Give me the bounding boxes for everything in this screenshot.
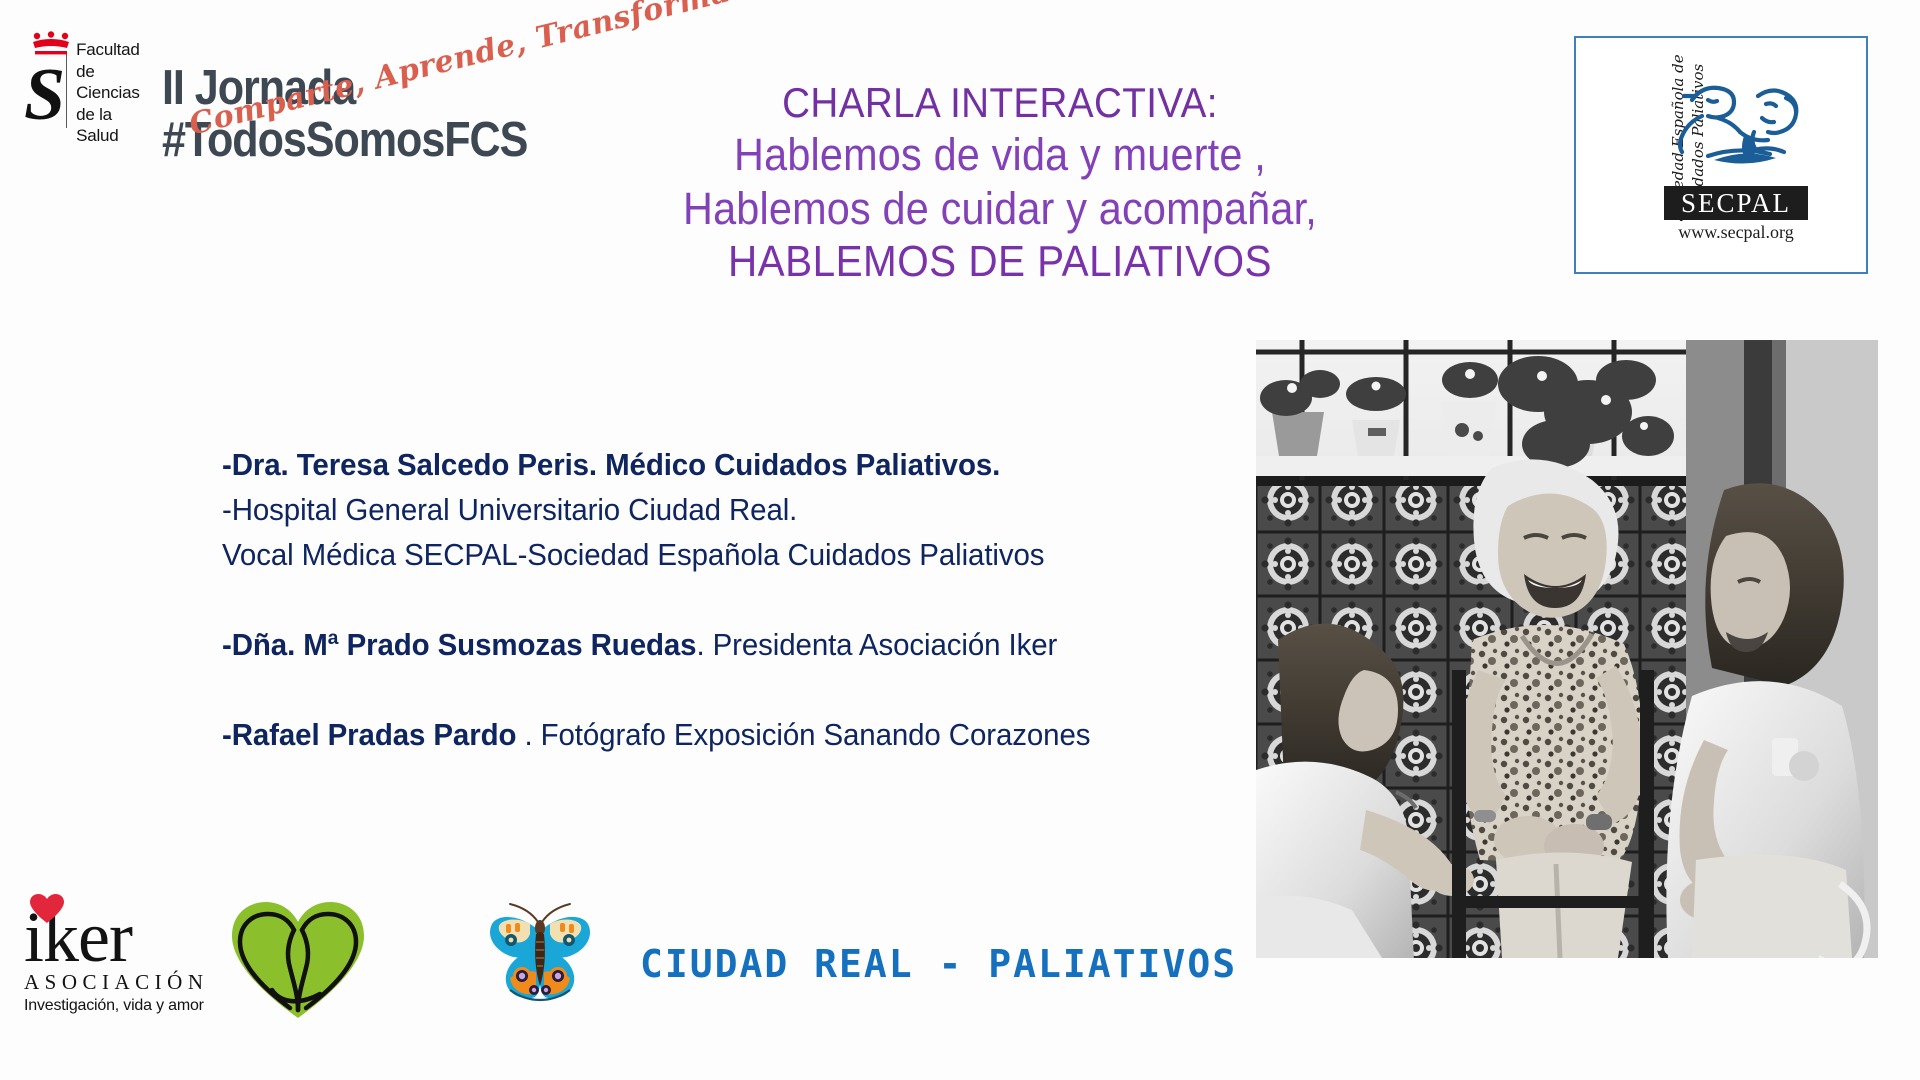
list-spacer xyxy=(222,577,1232,622)
heart-icon xyxy=(30,894,64,924)
speaker-name: -Dra. Teresa Salcedo Peris. Médico Cuida… xyxy=(222,447,1000,482)
speaker-detail: Vocal Médica SECPAL-Sociedad Española Cu… xyxy=(222,537,1044,572)
logo-divider xyxy=(66,54,67,128)
facultad-ciencias-salud-logo: S Facultad de Ciencias de la Salud xyxy=(22,28,152,140)
urjc-crest-icon: S xyxy=(22,28,64,140)
jornada-wordmark: II Jornada #TodosSomosFCS Comparte, Apre… xyxy=(162,62,592,182)
palliative-care-photo xyxy=(1256,340,1878,958)
iker-wordmark: iker xyxy=(24,900,214,974)
faculty-line-3: Salud xyxy=(76,125,152,146)
secpal-wordmark: SECPAL xyxy=(1664,186,1808,220)
speaker-line: Vocal Médica SECPAL-Sociedad Española Cu… xyxy=(222,532,1182,577)
speakers-list: -Dra. Teresa Salcedo Peris. Médico Cuida… xyxy=(222,442,1232,757)
speaker-name: -Rafael Pradas Pardo xyxy=(222,717,516,752)
faculty-line-2: Ciencias de la xyxy=(76,82,152,125)
butterfly-icon xyxy=(484,898,596,1010)
iker-tagline: Investigación, vida y amor xyxy=(24,997,214,1015)
speaker-detail: -Hospital General Universitario Ciudad R… xyxy=(222,492,797,527)
secpal-url: www.secpal.org xyxy=(1664,222,1808,243)
title-line-1: CHARLA INTERACTIVA: xyxy=(595,78,1405,128)
faculty-logo-text: Facultad de Ciencias de la Salud xyxy=(76,21,152,146)
crest-monogram: S xyxy=(24,58,63,132)
speaker-line: -Dña. Mª Prado Susmozas Ruedas. Presiden… xyxy=(222,622,1182,667)
green-heart-logo xyxy=(228,898,368,1023)
title-line-4: HABLEMOS DE PALIATIVOS xyxy=(595,236,1405,289)
secpal-logo: Sociedad Española de Cuidados Paliativos xyxy=(1574,36,1868,274)
speaker-name: -Dña. Mª Prado Susmozas Ruedas xyxy=(222,627,696,662)
secpal-caregiver-icon xyxy=(1662,74,1818,178)
title-line-3: Hablemos de cuidar y acompañar, xyxy=(595,182,1405,236)
ciudad-real-paliativos-label: CIUDAD REAL - PALIATIVOS xyxy=(640,942,1237,986)
title-line-2: Hablemos de vida y muerte , xyxy=(595,128,1405,182)
photo-illustration xyxy=(1256,340,1878,958)
presentation-slide: S Facultad de Ciencias de la Salud II Jo… xyxy=(0,0,1920,1080)
iker-asociacion-logo: iker ASOCIACIÓN Investigación, vida y am… xyxy=(24,900,214,1028)
speaker-line: -Dra. Teresa Salcedo Peris. Médico Cuida… xyxy=(222,442,1182,487)
speaker-role: . Fotógrafo Exposición Sanando Corazones xyxy=(516,717,1090,752)
crown-icon xyxy=(30,30,72,56)
slide-title: CHARLA INTERACTIVA: Hablemos de vida y m… xyxy=(560,78,1440,289)
speaker-role: . Presidenta Asociación Iker xyxy=(696,627,1057,662)
speaker-line: -Rafael Pradas Pardo . Fotógrafo Exposic… xyxy=(222,712,1182,757)
list-spacer xyxy=(222,667,1232,712)
faculty-line-1: Facultad de xyxy=(76,39,152,82)
speaker-line: -Hospital General Universitario Ciudad R… xyxy=(222,487,1182,532)
